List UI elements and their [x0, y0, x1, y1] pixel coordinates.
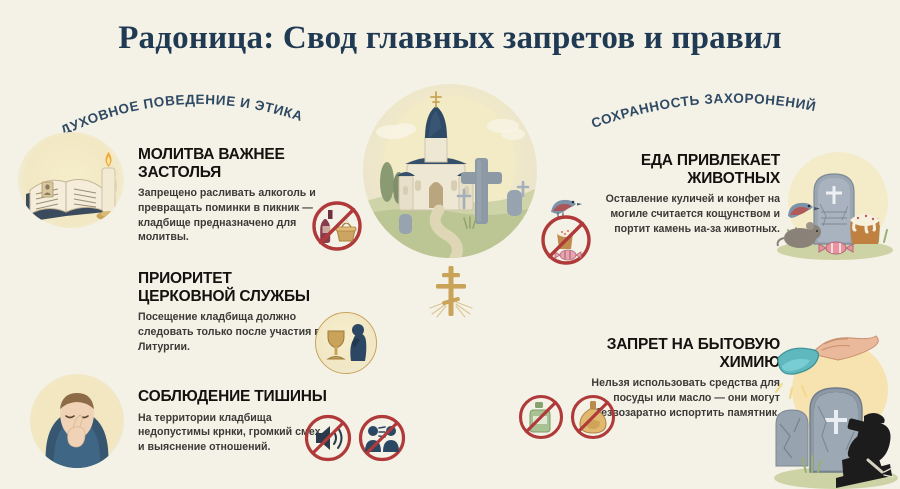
left-item-1-art-book-candle [18, 132, 124, 228]
ban-icon-arguing-people [356, 412, 408, 464]
right-section-header-text: СОХРАННОСТЬ ЗАХОРОНЕНИЙ [589, 91, 817, 131]
orthodox-cross-icon [424, 262, 478, 320]
ban-icon-kulich-and-candy [538, 212, 594, 268]
right-item-1: ЕДА ПРИВЛЕКАЕТ ЖИВОТНЫХ Оставление кулич… [588, 152, 780, 236]
left-item-2-title: ПРИОРИТЕТ ЦЕРКОВНОЙ СЛУЖБЫ [138, 270, 333, 305]
right-item-1-art-grave-animals-food [774, 144, 896, 260]
left-item-3-body: На территории кладбища недопустимы крнки… [138, 411, 328, 455]
ban-icon-spray-bottle [516, 392, 566, 442]
left-item-3-art-woman-shushing [30, 374, 124, 468]
left-item-3-title: СОБЛЮДЕНИЕ ТИШИНЫ [138, 388, 328, 406]
left-item-2-body: Посещение кладбища должно следовать толь… [138, 310, 333, 354]
infographic-canvas: Радоница: Свод главных запретов и правил… [0, 0, 900, 489]
left-item-2: ПРИОРИТЕТ ЦЕРКОВНОЙ СЛУЖБЫ Посещение кла… [138, 270, 333, 354]
left-section-header: ДУХОВНОЕ ПОВЕДЕНИЕ И ЭТИКА [52, 82, 352, 144]
left-item-1: МОЛИТВА ВАЖНЕЕ ЗАСТОЛЬЯ Запрещено раслив… [138, 146, 328, 245]
left-item-1-body: Запрещено расливать алкоголь и превращат… [138, 186, 328, 244]
center-church-cemetery-illustration [363, 84, 537, 258]
ban-icon-loudspeaker [302, 412, 354, 464]
right-item-1-title: ЕДА ПРИВЛЕКАЕТ ЖИВОТНЫХ [588, 152, 780, 187]
left-section-header-text: ДУХОВНОЕ ПОВЕДЕНИЕ И ЭТИКА [58, 92, 305, 138]
right-item-1-body: Оставление куличей и конфет на могиле сч… [588, 192, 780, 236]
left-item-2-art-chalice-praying [315, 312, 377, 374]
right-section-header: СОХРАННОСТЬ ЗАХОРОНЕНИЙ [584, 88, 874, 146]
page-title: Радоница: Свод главных запретов и правил [0, 20, 900, 57]
left-item-3: СОБЛЮДЕНИЕ ТИШИНЫ На территории кладбища… [138, 388, 328, 454]
left-item-1-title: МОЛИТВА ВАЖНЕЕ ЗАСТОЛЬЯ [138, 146, 328, 181]
ban-icon-oil-flask [568, 392, 618, 442]
ban-icon-wine-and-picnic [309, 198, 365, 254]
right-item-2-art-cleaning-gravestone [772, 332, 900, 489]
right-item-2-title: ЗАПРЕТ НА БЫТОВУЮ ХИМИЮ [580, 336, 780, 371]
